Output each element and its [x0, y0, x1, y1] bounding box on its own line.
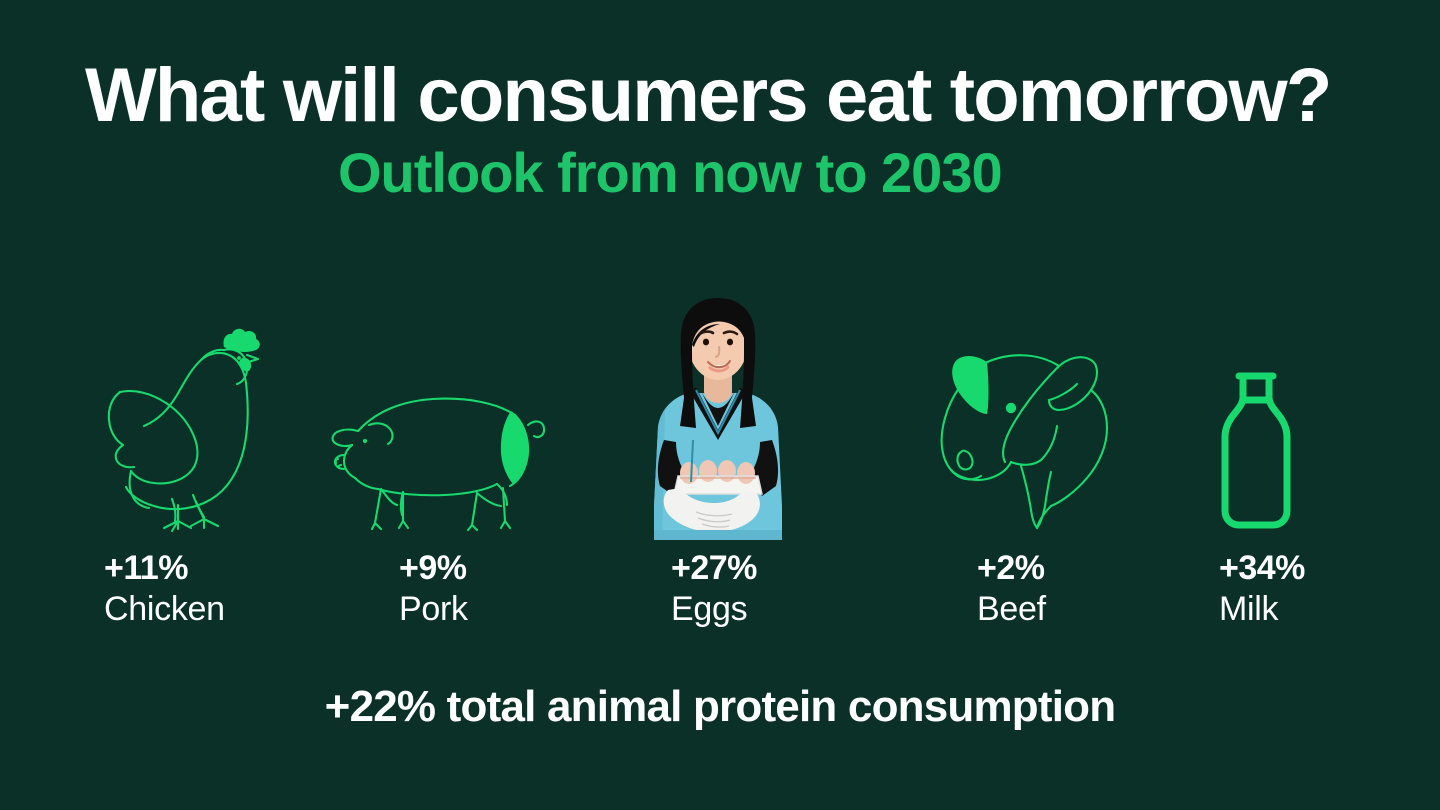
beef-name: Beef: [977, 588, 1046, 630]
item-pork: [325, 365, 565, 545]
chicken-eye-icon: [237, 356, 241, 360]
infographic-slide: What will consumers eat tomorrow? Outloo…: [0, 0, 1440, 810]
item-milk: [1212, 360, 1332, 545]
chicken-name: Chicken: [104, 588, 225, 630]
page-subtitle: Outlook from now to 2030: [338, 145, 1002, 201]
cow-eye-icon: [1006, 403, 1016, 413]
eye-right: [727, 339, 733, 346]
beef-percent: +2%: [977, 548, 1046, 588]
total-consumption-summary: +22% total animal protein consumption: [0, 682, 1440, 732]
milk-name: Milk: [1219, 588, 1305, 630]
cow-head-icon: [925, 340, 1125, 545]
pig-eye-icon: [363, 439, 367, 443]
pork-name: Pork: [399, 588, 468, 630]
item-label-row: +11% Chicken +9% Pork +27% Eggs +2% Beef…: [0, 548, 1440, 638]
label-pork: +9% Pork: [399, 548, 468, 630]
item-eggs: [634, 295, 814, 545]
label-eggs: +27% Eggs: [671, 548, 757, 630]
eggs-name: Eggs: [671, 588, 757, 630]
chicken-wattle-icon: [239, 358, 251, 372]
item-beef: [925, 340, 1145, 545]
label-milk: +34% Milk: [1219, 548, 1305, 630]
pork-percent: +9%: [399, 548, 468, 588]
milk-bottle-icon: [1212, 365, 1300, 545]
eye-left: [703, 339, 709, 346]
label-chicken: +11% Chicken: [104, 548, 225, 630]
cow-ear-fill: [952, 356, 988, 414]
chicken-icon: [96, 325, 266, 545]
label-beef: +2% Beef: [977, 548, 1046, 630]
pig-icon: [325, 385, 553, 545]
milk-percent: +34%: [1219, 548, 1305, 588]
item-chicken: [96, 315, 296, 545]
pig-haunch-fill: [501, 411, 529, 484]
egg-farmer-illustration: [634, 290, 802, 545]
page-title: What will consumers eat tomorrow?: [85, 58, 1330, 134]
item-icon-row: [0, 285, 1440, 545]
chicken-percent: +11%: [104, 548, 225, 588]
chicken-comb-icon: [223, 329, 259, 352]
eggs-percent: +27%: [671, 548, 757, 588]
